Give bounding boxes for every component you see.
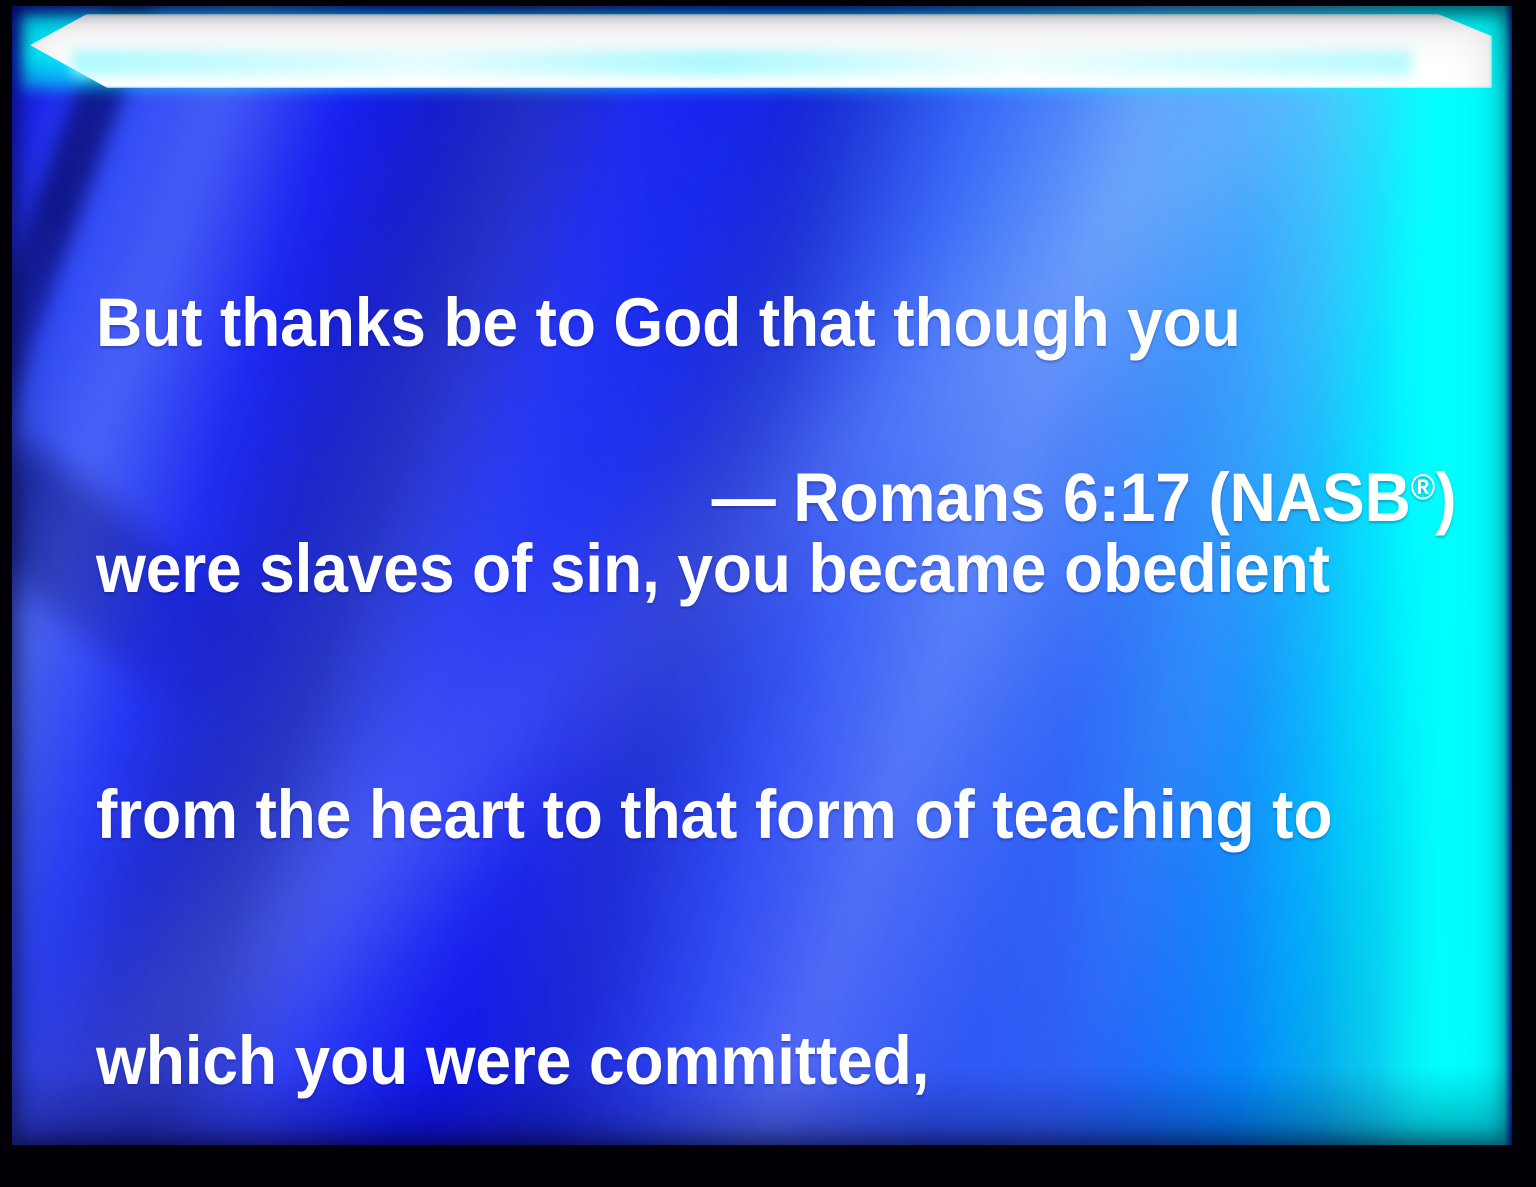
verse-attribution: — Romans 6:17 (NASB®) xyxy=(192,446,1462,539)
attribution-chapter-verse: 6:17 xyxy=(1063,459,1191,536)
slide-canvas: But thanks be to God that though you wer… xyxy=(12,6,1512,1145)
attribution-book: Romans xyxy=(793,459,1045,536)
registered-trademark-icon: ® xyxy=(1411,467,1436,507)
verse-line-3: from the heart to that form of teaching … xyxy=(96,774,1361,856)
verse-slide: But thanks be to God that though you wer… xyxy=(0,0,1536,1187)
attribution-dash: — xyxy=(712,459,776,536)
verse-line-2: were slaves of sin, you became obedient xyxy=(96,528,1361,610)
verse-text: But thanks be to God that though you wer… xyxy=(96,118,1361,1145)
verse-line-1: But thanks be to God that though you xyxy=(96,282,1361,364)
verse-line-4: which you were committed, xyxy=(96,1020,1361,1102)
attribution-translation-close: ) xyxy=(1435,459,1456,536)
header-band-tint xyxy=(72,50,1412,76)
attribution-translation-open: (NASB xyxy=(1208,459,1410,536)
